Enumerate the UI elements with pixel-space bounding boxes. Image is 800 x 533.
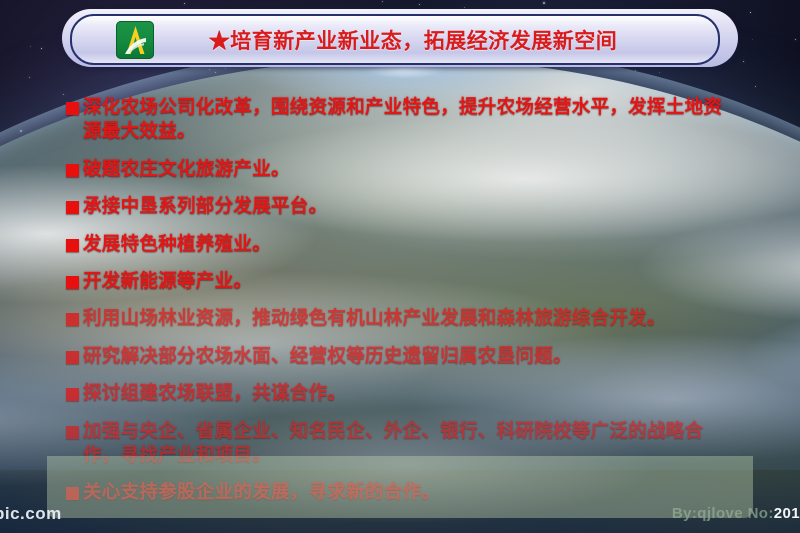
list-item: 关心支持参股企业的发展，寻求新的合作。 xyxy=(66,481,738,505)
red-square-bullet-icon xyxy=(66,388,79,401)
red-square-bullet-icon xyxy=(66,164,79,177)
list-item-text: 破题农庄文化旅游产业。 xyxy=(83,158,738,182)
title-banner: ★培育新产业新业态，拓展经济发展新空间 xyxy=(70,14,720,65)
page-title-text: 培育新产业新业态，拓展经济发展新空间 xyxy=(230,29,617,53)
list-item-text: 开发新能源等产业。 xyxy=(83,270,738,294)
red-square-bullet-icon xyxy=(66,102,79,115)
red-square-bullet-icon xyxy=(66,487,79,500)
red-square-bullet-icon xyxy=(66,426,79,439)
watermark-author: By:qjlove No: xyxy=(672,505,774,522)
watermark-bottom-right: By:qjlove No:201 xyxy=(672,505,800,522)
list-item-text: 利用山场林业资源，推动绿色有机山林产业发展和森林旅游综合开发。 xyxy=(83,307,738,331)
list-item-text: 承接中垦系列部分发展平台。 xyxy=(83,195,738,219)
slide-canvas: ★培育新产业新业态，拓展经济发展新空间 深化农场公司化改革，围绕资源和产业特色，… xyxy=(0,0,800,533)
red-square-bullet-icon xyxy=(66,351,79,364)
list-item: 深化农场公司化改革，围绕资源和产业特色，提升农场经营水平，发挥土地资源最大效益。 xyxy=(66,96,738,145)
red-square-bullet-icon xyxy=(66,276,79,289)
red-square-bullet-icon xyxy=(66,201,79,214)
watermark-bottom-left: pic.com xyxy=(0,504,62,524)
list-item-text: 探讨组建农场联盟，共谋合作。 xyxy=(83,382,738,406)
list-item: 研究解决部分农场水面、经营权等历史遗留归属农垦问题。 xyxy=(66,345,738,369)
red-square-bullet-icon xyxy=(66,313,79,326)
list-item: 探讨组建农场联盟，共谋合作。 xyxy=(66,382,738,406)
list-item: 破题农庄文化旅游产业。 xyxy=(66,158,738,182)
list-item: 利用山场林业资源，推动绿色有机山林产业发展和森林旅游综合开发。 xyxy=(66,307,738,331)
list-item-text: 关心支持参股企业的发展，寻求新的合作。 xyxy=(83,481,738,505)
bullet-list: 深化农场公司化改革，围绕资源和产业特色，提升农场经营水平，发挥土地资源最大效益。… xyxy=(66,96,738,519)
list-item-text: 深化农场公司化改革，围绕资源和产业特色，提升农场经营水平，发挥土地资源最大效益。 xyxy=(83,96,738,145)
list-item: 承接中垦系列部分发展平台。 xyxy=(66,195,738,219)
list-item: 开发新能源等产业。 xyxy=(66,270,738,294)
red-square-bullet-icon xyxy=(66,239,79,252)
watermark-number: 201 xyxy=(774,505,800,522)
page-title: ★培育新产业新业态，拓展经济发展新空间 xyxy=(154,25,718,55)
agriculture-arch-logo-icon xyxy=(116,21,154,59)
list-item-text: 加强与央企、省属企业、知名民企、外企、银行、科研院校等广泛的战略合作，寻找产业和… xyxy=(83,420,738,469)
list-item: 发展特色种植养殖业。 xyxy=(66,233,738,257)
list-item-text: 研究解决部分农场水面、经营权等历史遗留归属农垦问题。 xyxy=(83,345,738,369)
star-icon: ★ xyxy=(209,29,231,53)
list-item-text: 发展特色种植养殖业。 xyxy=(83,233,738,257)
list-item: 加强与央企、省属企业、知名民企、外企、银行、科研院校等广泛的战略合作，寻找产业和… xyxy=(66,420,738,469)
